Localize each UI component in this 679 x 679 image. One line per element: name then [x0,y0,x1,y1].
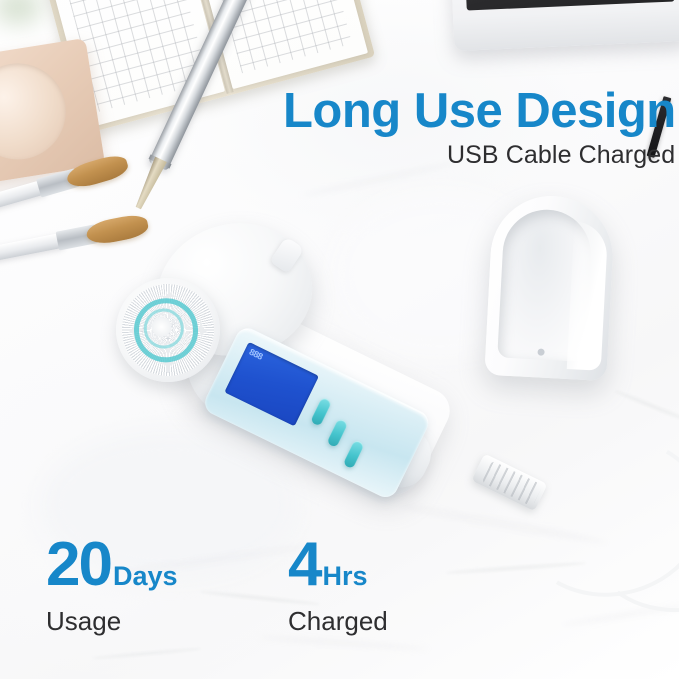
product-marketing-image: 888 Long Use Design USB Cable Charged 20… [0,0,679,679]
stat-value-row: 4 Hrs [288,536,388,593]
facial-cleansing-brush-device: 888 [110,212,470,512]
stat-value-row: 20 Days [46,536,178,593]
marble-vein [614,389,679,423]
stat-usage: 20 Days Usage [46,536,178,637]
mode-button-3[interactable] [343,439,365,469]
stat-unit: Days [113,561,178,592]
stat-charge-time: 4 Hrs Charged [288,536,388,637]
leaf-hint [0,0,42,24]
page-subtitle: USB Cable Charged [447,141,675,170]
mode-button-1[interactable] [310,397,332,427]
marble-vein [92,647,202,660]
dock-lip [567,221,609,371]
stat-number: 20 [46,536,111,593]
stat-caption: Charged [288,606,388,637]
usb-charging-cable [440,430,679,550]
pen-tip [132,157,167,211]
brush-handle [0,233,65,276]
lcd-display: 888 [224,342,319,427]
stat-number: 4 [288,536,320,593]
mode-button-2[interactable] [326,418,348,448]
charging-dock-stand [484,193,615,381]
white-tablet [450,0,679,51]
stat-caption: Usage [46,606,178,637]
lcd-digits: 888 [248,348,264,362]
stat-unit: Hrs [322,561,367,592]
page-title: Long Use Design [283,83,676,139]
